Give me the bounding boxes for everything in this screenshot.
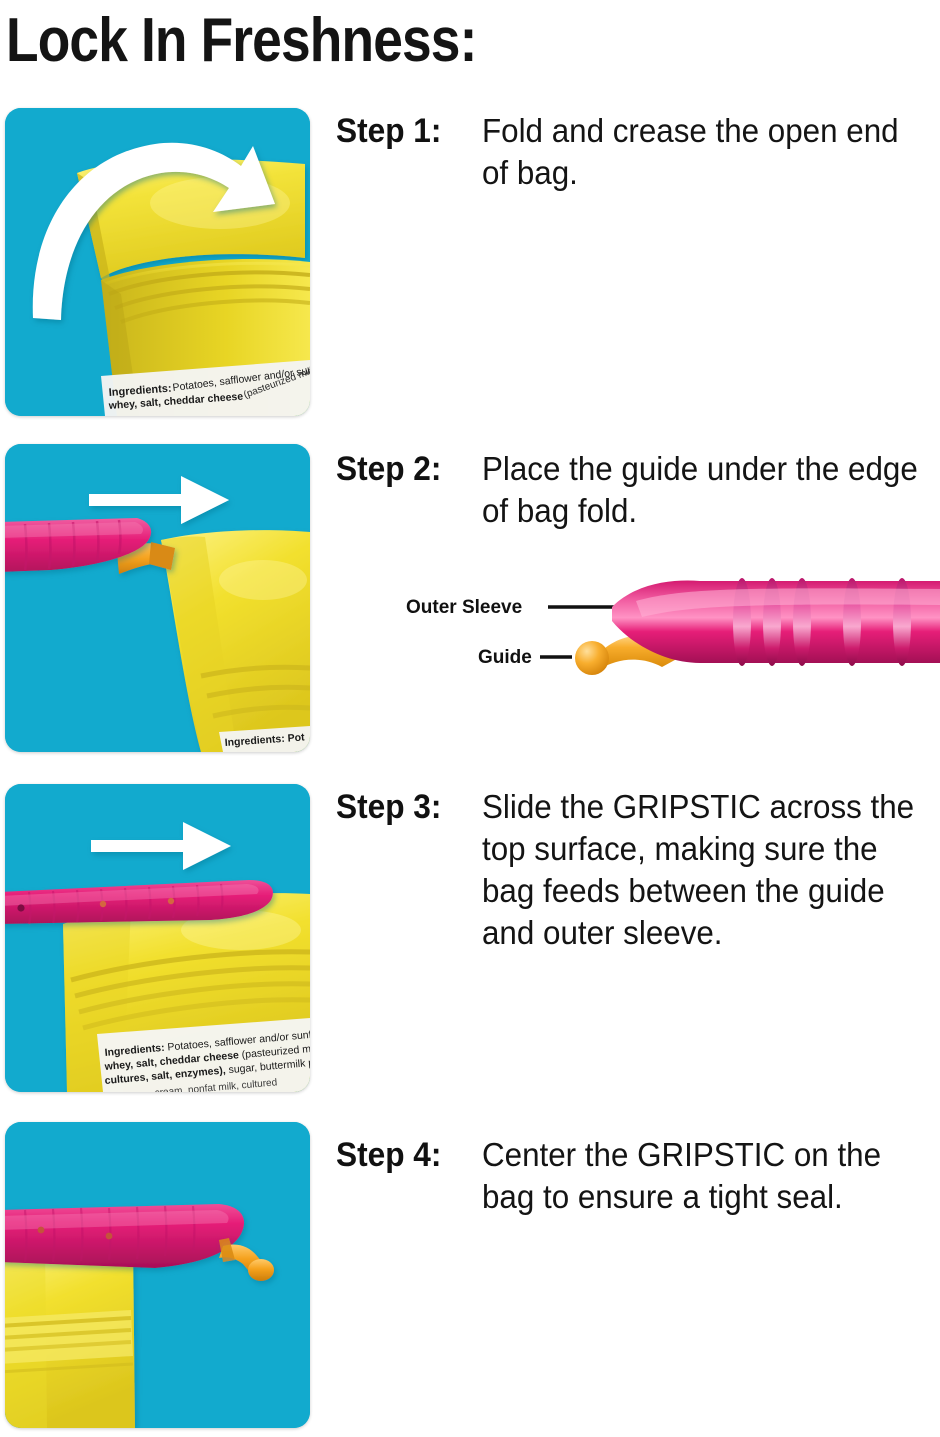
outer-sleeve-part xyxy=(612,578,940,666)
step-3-label: Step 3: xyxy=(336,786,441,828)
step-1-text: Fold and crease the open end of bag. xyxy=(482,110,921,194)
bag-front xyxy=(5,1240,135,1428)
step-1-label: Step 1: xyxy=(336,110,441,152)
outer-sleeve-label: Outer Sleeve xyxy=(406,597,522,618)
step-2-illustration: Ingredients: Pot xyxy=(5,444,310,752)
page-title: Lock In Freshness: xyxy=(6,2,608,80)
gripstic-parts-diagram: Outer Sleeve Guide xyxy=(400,571,940,681)
step-3-text: Slide the GRIPSTIC across the top surfac… xyxy=(482,786,921,954)
step-4-illustration xyxy=(5,1122,310,1428)
step-2-text: Place the guide under the edge of bag fo… xyxy=(482,448,921,532)
step-2-label: Step 2: xyxy=(336,448,441,490)
step-4-text: Center the GRIPSTIC on the bag to ensure… xyxy=(482,1134,921,1218)
step-1-illustration: Ingredients: Potatoes, safflower and/or … xyxy=(5,108,310,416)
guide-label: Guide xyxy=(478,647,532,668)
step-row-3: Ingredients: Potatoes, safflower and/or … xyxy=(0,776,940,1101)
step-row-1: Ingredients: Potatoes, safflower and/or … xyxy=(0,100,940,425)
step-3-illustration: Ingredients: Potatoes, safflower and/or … xyxy=(5,784,310,1092)
step-row-4: Step 4: Center the GRIPSTIC on the bag t… xyxy=(0,1114,940,1437)
step-row-2: Ingredients: Pot Step 2: Place the guide… xyxy=(0,436,940,761)
step-4-label: Step 4: xyxy=(336,1134,441,1176)
